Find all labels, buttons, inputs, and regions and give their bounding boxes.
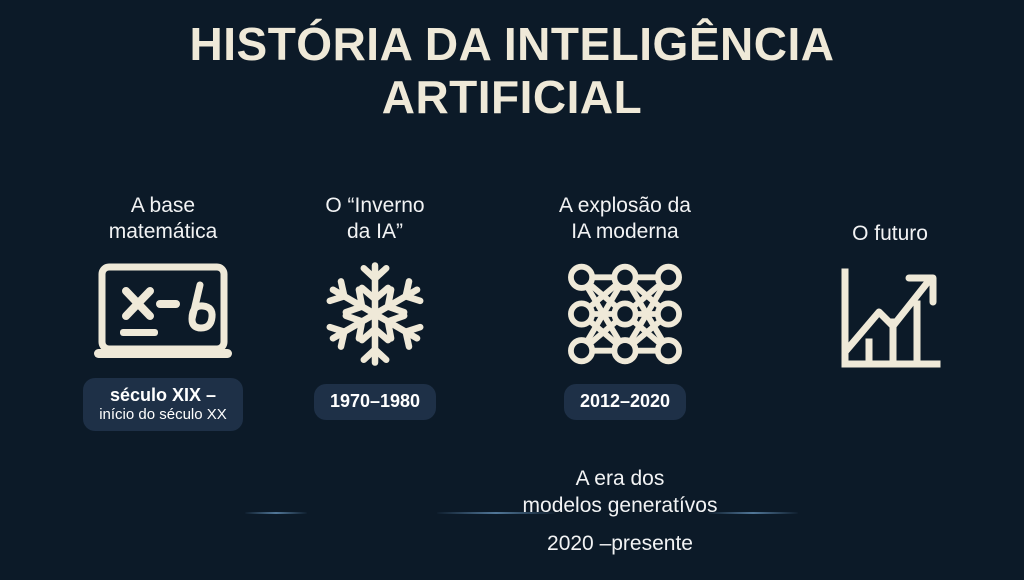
connector-line-1 bbox=[245, 512, 307, 514]
badge-holder: 2012–2020 bbox=[500, 384, 750, 420]
neural-network-icon bbox=[500, 258, 750, 370]
page-title: HISTÓRIA DA INTELIGÊNCIA ARTIFICIAL bbox=[0, 18, 1024, 125]
badge-main-text: século XIX – bbox=[99, 385, 227, 406]
timeline-item-ia-moderna[interactable]: A explosão da IA moderna bbox=[500, 193, 750, 420]
page-title-line-2: ARTIFICIAL bbox=[0, 71, 1024, 124]
timeline-item-label: O “Inverno da IA” bbox=[286, 193, 464, 246]
badge-main-text: 2012–2020 bbox=[580, 391, 670, 412]
status-badge: 1970–1980 bbox=[314, 384, 436, 420]
badge-holder: 1970–1980 bbox=[286, 384, 464, 420]
status-badge: 2012–2020 bbox=[564, 384, 686, 420]
timeline-item-label: A explosão da IA moderna bbox=[500, 193, 750, 246]
slide-canvas: HISTÓRIA DA INTELIGÊNCIA ARTIFICIAL A ba… bbox=[0, 0, 1024, 580]
snowflake-icon bbox=[286, 258, 464, 370]
blackboard-icon bbox=[48, 260, 278, 370]
badge-sub-text: início do século XX bbox=[99, 406, 227, 424]
footer-caption-line-1: A era dos modelos generatívos bbox=[430, 465, 810, 520]
page-title-line-1: HISTÓRIA DA INTELIGÊNCIA bbox=[190, 18, 835, 70]
timeline-item-base-matematica[interactable]: A base matemática século XIX – bbox=[48, 193, 278, 431]
footer-caption: A era dos modelos generatívos 2020 –pres… bbox=[430, 465, 810, 557]
badge-holder: século XIX – início do século XX bbox=[48, 378, 278, 432]
timeline-item-label: A base matemática bbox=[48, 193, 278, 246]
timeline: A base matemática século XIX – bbox=[0, 185, 1024, 455]
footer-caption-line-2: 2020 –presente bbox=[430, 530, 810, 557]
growth-chart-icon bbox=[780, 263, 1000, 375]
timeline-item-inverno-da-ia[interactable]: O “Inverno da IA” bbox=[286, 193, 464, 420]
timeline-item-o-futuro[interactable]: O futuro bbox=[780, 221, 1000, 375]
badge-main-text: 1970–1980 bbox=[330, 391, 420, 412]
timeline-item-label: O futuro bbox=[780, 221, 1000, 247]
status-badge: século XIX – início do século XX bbox=[83, 378, 243, 432]
